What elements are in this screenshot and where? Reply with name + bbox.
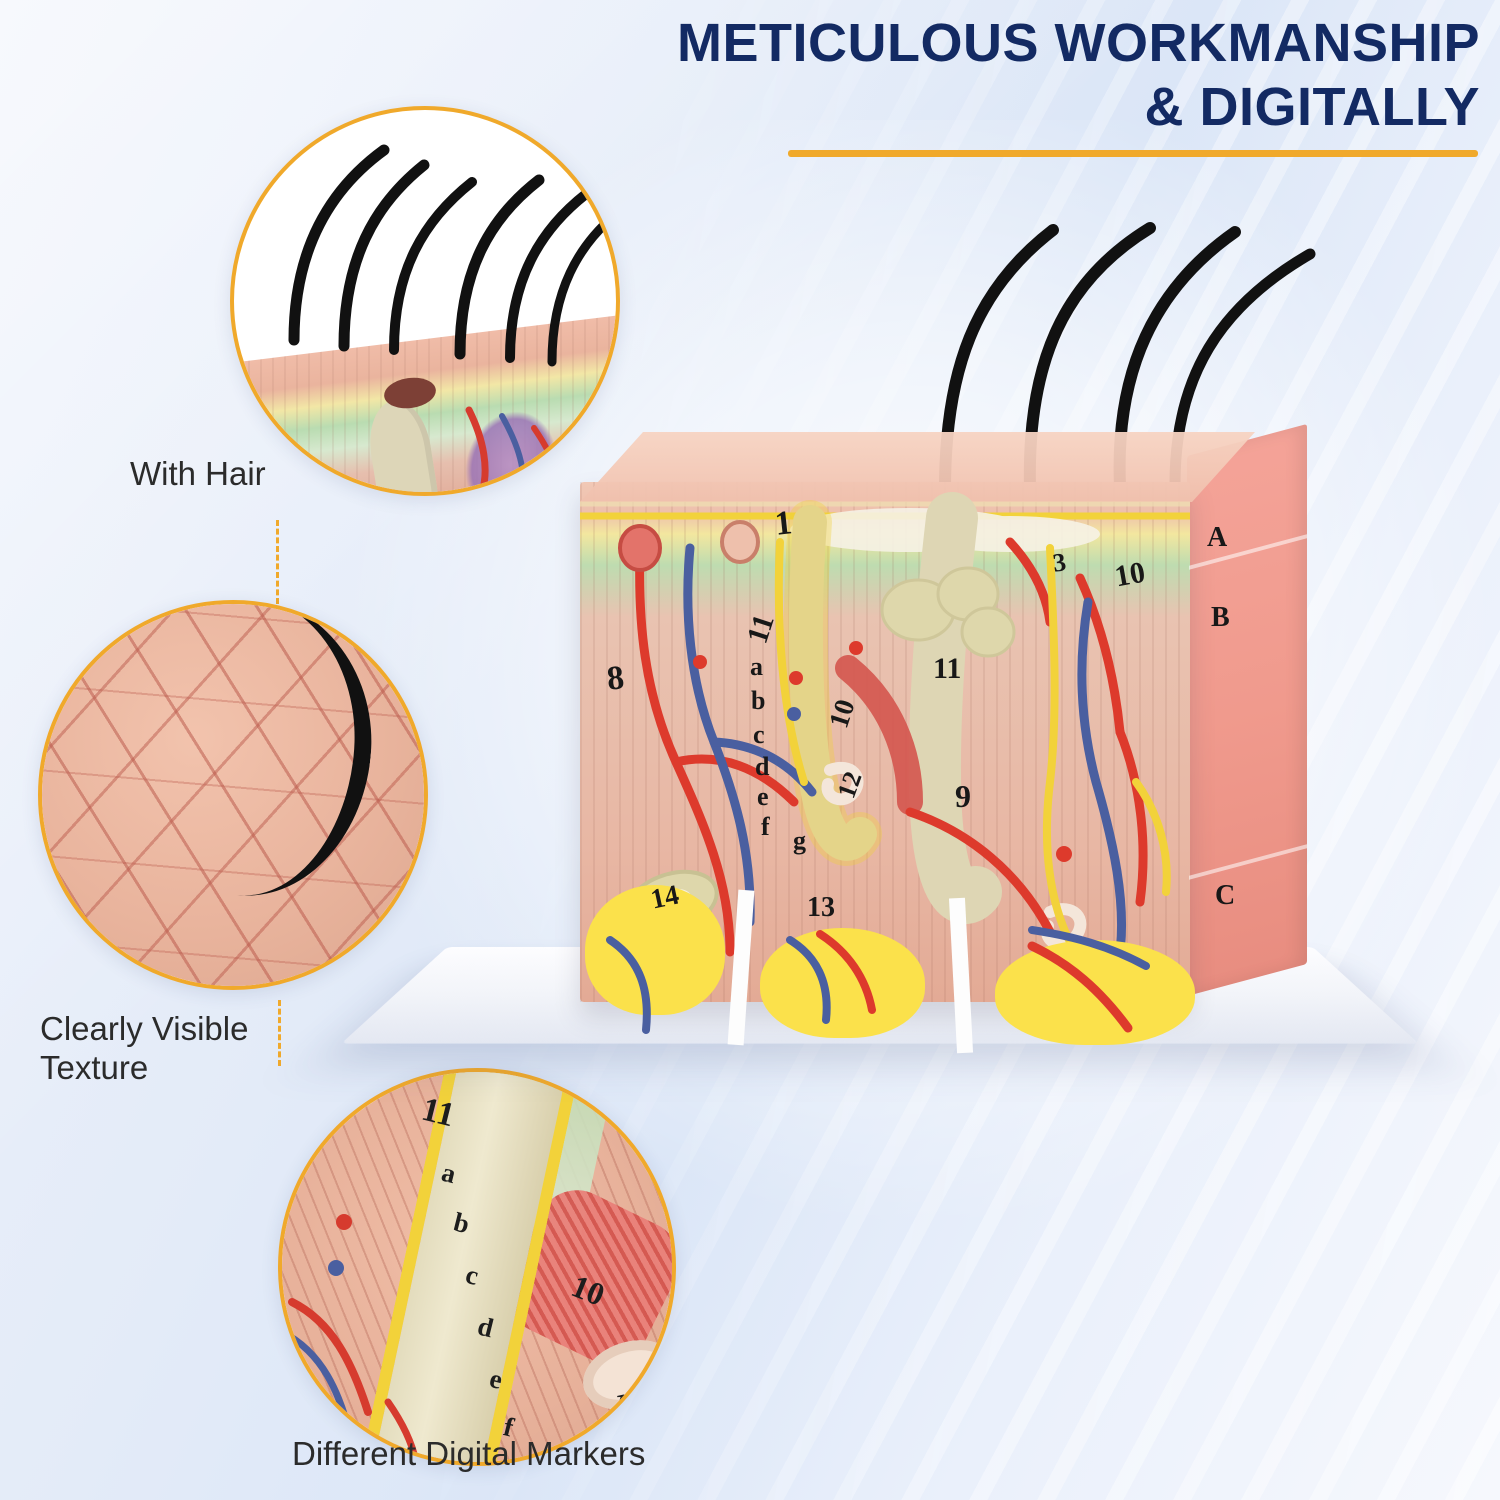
skin-model: 1 8 11 a b c d e f g 10 12 3 11 9 14 10 … [575,430,1315,1030]
model-marker-B: B [1211,602,1230,634]
model-marker-e: e [757,782,769,812]
caption-texture-line-2: Texture [40,1049,148,1086]
vessel-art [234,110,616,492]
callout-with-hair [230,106,620,496]
headline-line-1: METICULOUS WORKMANSHIP [430,14,1480,72]
caption-with-hair: With Hair [130,455,266,494]
model-marker-C: C [1215,880,1235,912]
callout-digital-markers: 11 a b c d e f g 10 12 [278,1068,676,1466]
callout-texture [38,600,428,990]
model-marker-a: a [750,652,763,682]
model-marker-13: 13 [807,892,835,924]
model-marker-A: A [1207,522,1227,554]
product-infographic: METICULOUS WORKMANSHIP & DIGITALLY [0,0,1500,1500]
model-marker-10-right: 10 [1112,556,1147,595]
model-marker-c: c [753,720,765,750]
model-marker-d: d [755,752,769,782]
model-marker-g-left: g [793,826,806,856]
model-marker-11-mid: 11 [933,652,961,686]
caption-texture-line-1: Clearly Visible [40,1010,248,1047]
connector-dash-1 [276,520,279,604]
model-marker-b: b [751,686,765,716]
model-marker-f: f [761,812,770,842]
model-marker-9: 9 [955,778,971,815]
model-side-face [1187,424,1307,996]
connector-dash-2 [278,1000,281,1066]
caption-digital-markers: Different Digital Markers [292,1435,645,1474]
